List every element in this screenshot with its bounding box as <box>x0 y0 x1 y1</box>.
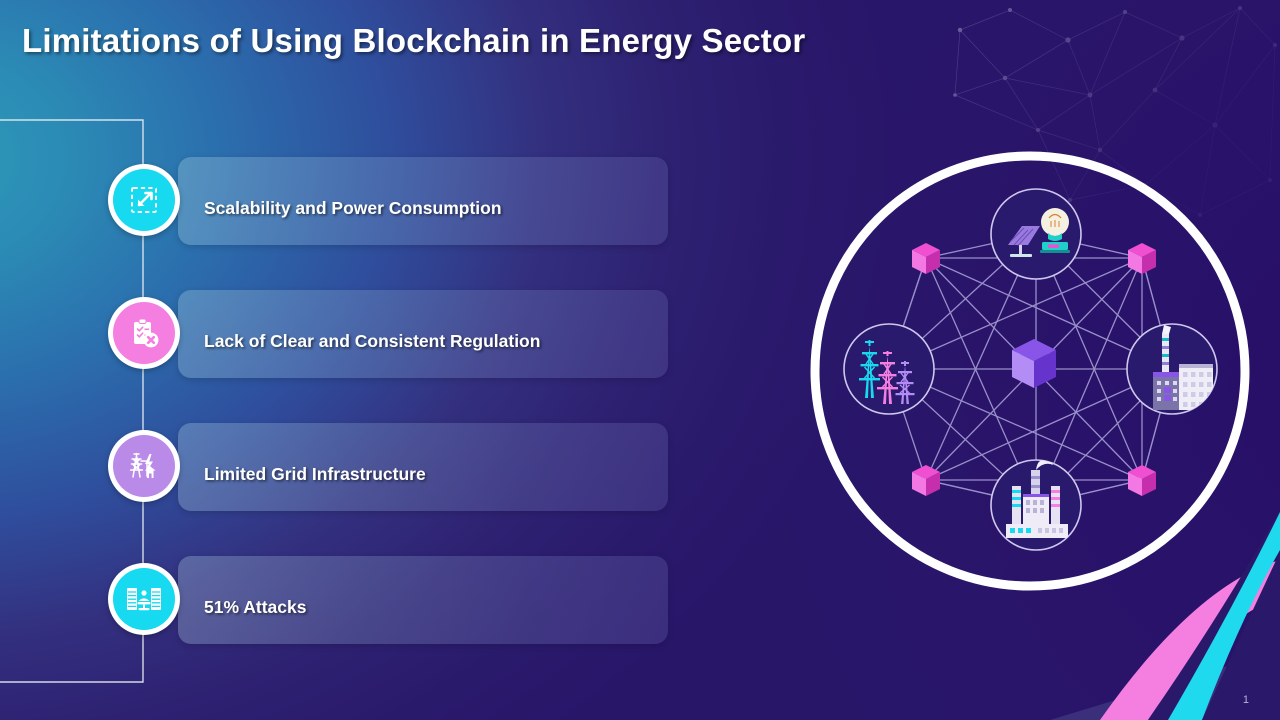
power-plant-node <box>991 460 1081 550</box>
list-item-icon-bubble[interactable] <box>108 297 180 369</box>
list-item[interactable]: Limited Grid Infrastructure <box>108 430 668 522</box>
limitations-list: Scalability and Power Consumption Lack o… <box>0 0 700 720</box>
list-item-icon-bubble[interactable] <box>108 430 180 502</box>
factory-building-node <box>1127 324 1217 414</box>
transmission-towers-node <box>844 324 934 414</box>
cube-node-top-left <box>912 243 940 274</box>
blockchain-energy-network <box>790 138 1260 608</box>
list-item-label: Limited Grid Infrastructure <box>204 430 426 518</box>
list-item-icon-bubble[interactable] <box>108 164 180 236</box>
page-number: 1 <box>1243 694 1249 706</box>
server-rack-icon <box>125 582 163 616</box>
center-cube-node <box>1012 339 1056 388</box>
cube-node-top-right <box>1128 243 1156 274</box>
list-item-label: 51% Attacks <box>204 563 306 651</box>
page-title: Limitations of Using Blockchain in Energ… <box>22 22 805 60</box>
solar-panel-bulb-node <box>991 189 1081 279</box>
scale-expand-icon <box>126 182 162 218</box>
list-item[interactable]: 51% Attacks <box>108 563 668 655</box>
list-item[interactable]: Scalability and Power Consumption <box>108 164 668 256</box>
slide-canvas: Limitations of Using Blockchain in Energ… <box>0 0 1280 720</box>
list-item-label: Scalability and Power Consumption <box>204 164 502 252</box>
power-tower-icon <box>125 447 163 485</box>
list-item-label: Lack of Clear and Consistent Regulation <box>204 297 540 385</box>
list-item[interactable]: Lack of Clear and Consistent Regulation <box>108 297 668 389</box>
clipboard-reject-icon <box>126 315 162 351</box>
list-item-icon-bubble[interactable] <box>108 563 180 635</box>
